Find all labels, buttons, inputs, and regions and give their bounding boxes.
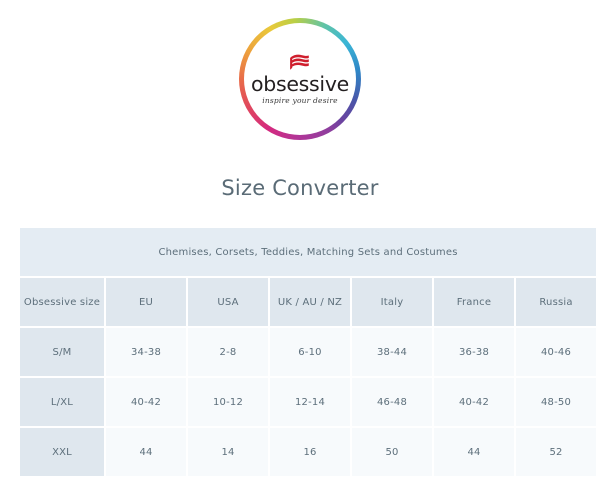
size-table-wrapper: Chemises, Corsets, Teddies, Matching Set…	[18, 226, 582, 478]
column-header-eu: EU	[106, 278, 186, 326]
cell-uk-au-nz: 12-14	[270, 378, 350, 426]
cell-italy: 38-44	[352, 328, 432, 376]
cell-eu: 40-42	[106, 378, 186, 426]
column-header-italy: Italy	[352, 278, 432, 326]
cell-italy: 46-48	[352, 378, 432, 426]
brand-wordmark: obsessive	[239, 74, 361, 95]
cell-france: 40-42	[434, 378, 514, 426]
table-header-row: Obsessive size EU USA UK / AU / NZ Italy…	[20, 278, 596, 326]
cell-russia: 40-46	[516, 328, 596, 376]
cell-russia: 48-50	[516, 378, 596, 426]
table-head: Chemises, Corsets, Teddies, Matching Set…	[20, 228, 596, 326]
size-converter-page: obsessive inspire your desire Size Conve…	[0, 0, 600, 495]
column-header-france: France	[434, 278, 514, 326]
column-header-obsessive-size: Obsessive size	[20, 278, 104, 326]
page-title: Size Converter	[0, 140, 600, 200]
column-header-usa: USA	[188, 278, 268, 326]
table-banner-row: Chemises, Corsets, Teddies, Matching Set…	[20, 228, 596, 276]
cell-france: 44	[434, 428, 514, 476]
obsessive-s-mark-icon	[289, 54, 311, 71]
cell-usa: 2-8	[188, 328, 268, 376]
row-header-size: S/M	[20, 328, 104, 376]
cell-eu: 44	[106, 428, 186, 476]
logo-inner: obsessive inspire your desire	[239, 54, 361, 104]
column-header-uk-au-nz: UK / AU / NZ	[270, 278, 350, 326]
row-header-size: XXL	[20, 428, 104, 476]
brand-logo: obsessive inspire your desire	[0, 0, 600, 140]
rainbow-ring-icon: obsessive inspire your desire	[239, 18, 361, 140]
table-row: S/M 34-38 2-8 6-10 38-44 36-38 40-46	[20, 328, 596, 376]
cell-russia: 52	[516, 428, 596, 476]
cell-usa: 10-12	[188, 378, 268, 426]
table-banner: Chemises, Corsets, Teddies, Matching Set…	[20, 228, 596, 276]
size-conversion-table: Chemises, Corsets, Teddies, Matching Set…	[18, 226, 598, 478]
cell-france: 36-38	[434, 328, 514, 376]
table-row: XXL 44 14 16 50 44 52	[20, 428, 596, 476]
table-body: S/M 34-38 2-8 6-10 38-44 36-38 40-46 L/X…	[20, 328, 596, 476]
cell-italy: 50	[352, 428, 432, 476]
cell-uk-au-nz: 16	[270, 428, 350, 476]
column-header-russia: Russia	[516, 278, 596, 326]
table-row: L/XL 40-42 10-12 12-14 46-48 40-42 48-50	[20, 378, 596, 426]
cell-usa: 14	[188, 428, 268, 476]
cell-uk-au-nz: 6-10	[270, 328, 350, 376]
row-header-size: L/XL	[20, 378, 104, 426]
cell-eu: 34-38	[106, 328, 186, 376]
brand-tagline: inspire your desire	[239, 97, 361, 105]
